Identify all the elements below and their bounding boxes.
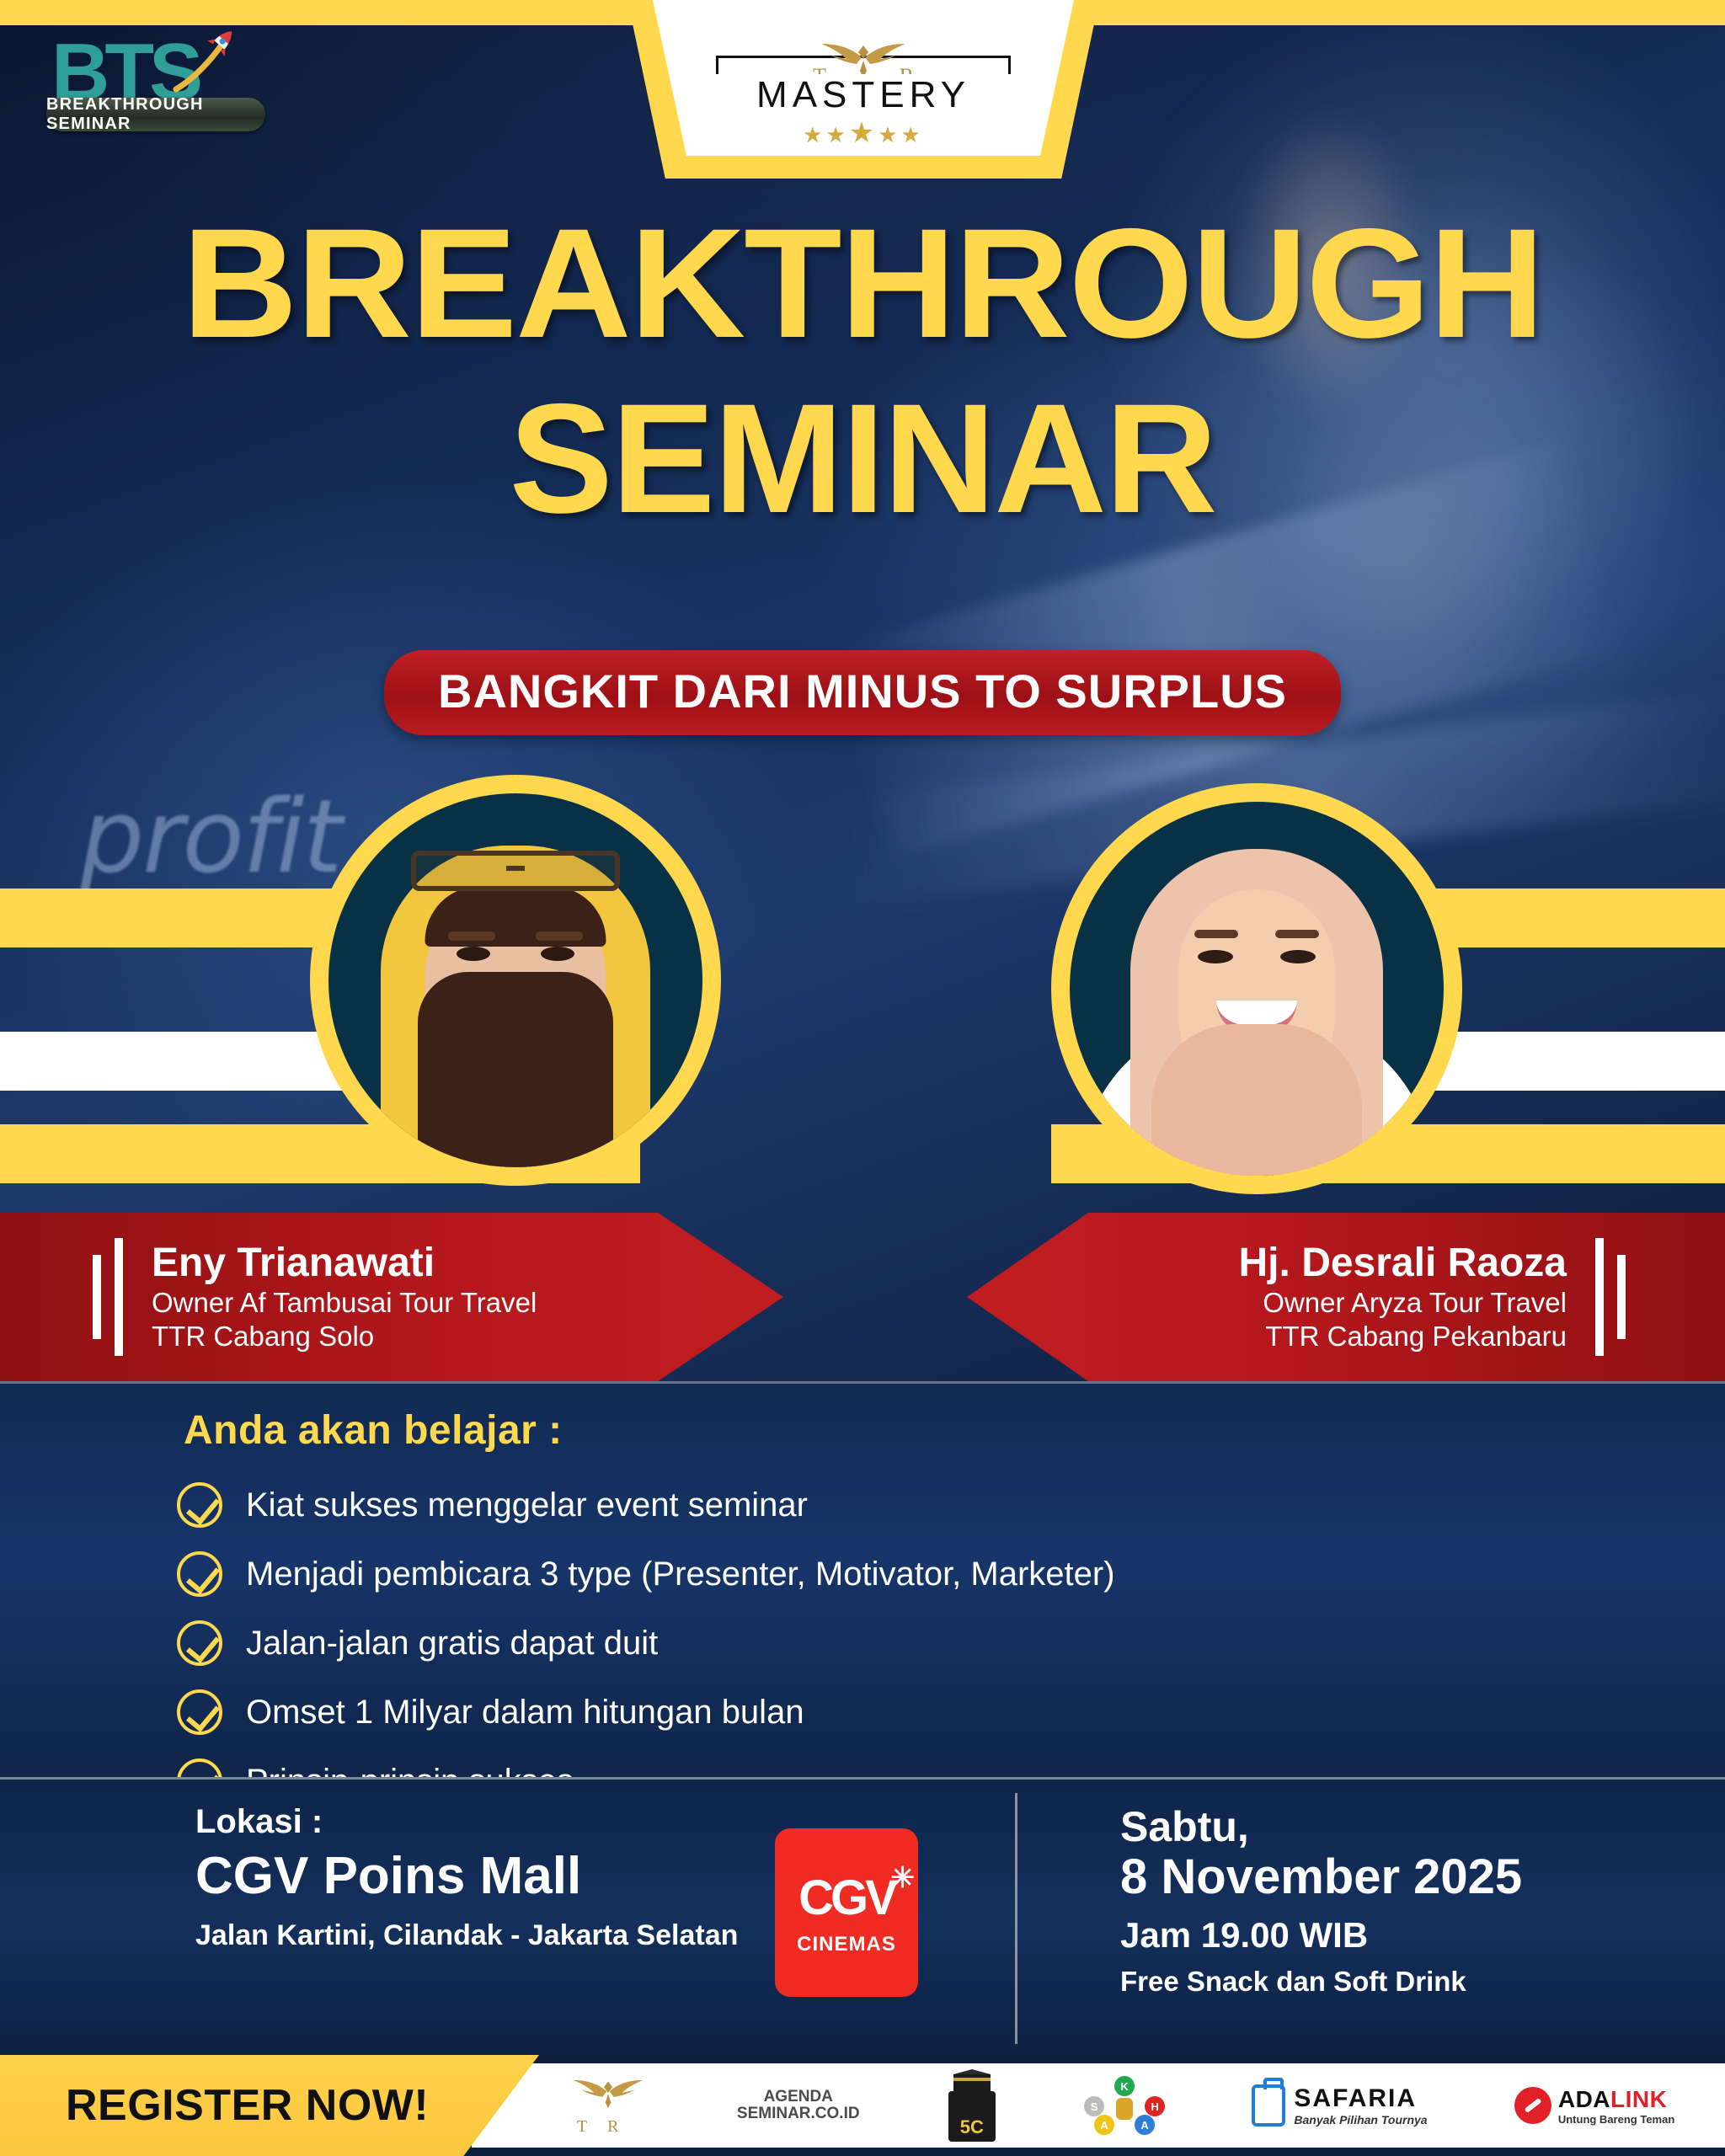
adalink-wordmark: ADALINK: [1558, 2086, 1674, 2113]
asterisk-icon: ✳: [890, 1861, 911, 1895]
agenda-line2: SEMINAR.CO.ID: [737, 2105, 860, 2122]
speaker-1-branch: TTR Cabang Solo: [152, 1320, 537, 1353]
safaria-tagline: Banyak Pilihan Tournya: [1294, 2113, 1427, 2127]
venue-name: CGV Poins Mall: [195, 1846, 738, 1906]
speaker-1-ribbon: Eny Trianawati Owner Af Tambusai Tour Tr…: [0, 1213, 783, 1381]
cgv-cinemas-logo: CGV ✳ CINEMAS: [775, 1828, 918, 1997]
page-title-line1: BREAKTHROUGH: [0, 212, 1725, 355]
cgv-subtext: CINEMAS: [797, 1933, 896, 1956]
learn-item-text: Menjadi pembicara 3 type (Presenter, Mot…: [246, 1556, 1115, 1593]
sponsor-umroh-5c: 5C: [947, 2069, 997, 2142]
umroh-5c-badge: 5C: [948, 2091, 996, 2142]
venue-block: Lokasi : CGV Poins Mall Jalan Kartini, C…: [195, 1803, 738, 1952]
adalink-link: LINK: [1610, 2086, 1667, 2112]
speaker-2-role: Owner Aryza Tour Travel: [1239, 1286, 1567, 1320]
learn-item-text: Jalan-jalan gratis dapat duit: [246, 1625, 658, 1662]
learn-item-text: Omset 1 Milyar dalam hitungan bulan: [246, 1694, 804, 1732]
schedule-day: Sabtu,: [1120, 1803, 1522, 1850]
schedule-date: 8 November 2025: [1120, 1850, 1522, 1905]
list-item: Kiat sukses menggelar event seminar: [177, 1476, 1154, 1534]
adalink-ada: ADA: [1558, 2086, 1610, 2112]
sponsor-ksah: K S H A A: [1084, 2069, 1165, 2142]
speaker-1-portrait: [328, 793, 702, 1167]
kaaba-icon: [947, 2069, 997, 2091]
sponsor-logos: TR AGENDA SEMINAR.CO.ID 5C: [522, 2063, 1718, 2148]
ribbon-bars-right: [1595, 1238, 1626, 1356]
poster-root: profit T R MASTERY ★★★★★: [0, 0, 1725, 2156]
list-item: Jalan-jalan gratis dapat duit: [177, 1614, 1154, 1672]
check-icon: [177, 1482, 222, 1528]
glasses-icon: [411, 851, 620, 891]
subtitle-wrap: BANGKIT DARI MINUS TO SURPLUS: [0, 650, 1725, 735]
speaker-2-text: Hj. Desrali Raoza Owner Aryza Tour Trave…: [1210, 1241, 1595, 1353]
check-icon: [177, 1620, 222, 1666]
ksah-h: H: [1145, 2096, 1165, 2116]
learn-heading: Anda akan belajar :: [184, 1407, 563, 1454]
avatar-speaker-1: [310, 775, 721, 1186]
ksah-a2: A: [1135, 2115, 1155, 2135]
link-icon: [1514, 2087, 1551, 2124]
ksah-s: S: [1084, 2096, 1104, 2116]
check-icon: [177, 1689, 222, 1735]
check-icon: [177, 1551, 222, 1597]
ksah-k: K: [1114, 2076, 1135, 2096]
sponsor-ttr: TR: [566, 2069, 650, 2142]
decorative-stripes: [0, 889, 1725, 1179]
speaker-2-ribbon: Hj. Desrali Raoza Owner Aryza Tour Trave…: [967, 1213, 1725, 1381]
register-now-banner[interactable]: REGISTER NOW!: [0, 2055, 539, 2156]
learn-section: Anda akan belajar : Kiat sukses menggela…: [0, 1381, 1725, 1777]
bts-tagline-plate: BREAKTHROUGH SEMINAR: [46, 98, 265, 131]
eagle-icon: [566, 2075, 650, 2109]
ksah-figure-icon: [1116, 2098, 1133, 2120]
rocket-icon: [173, 27, 240, 93]
speaker-2-name: Hj. Desrali Raoza: [1239, 1241, 1567, 1286]
schedule-time: Jam 19.00 WIB: [1120, 1915, 1522, 1956]
cgv-wordmark: CGV ✳: [798, 1870, 895, 1926]
subtitle-badge: BANGKIT DARI MINUS TO SURPLUS: [384, 650, 1341, 735]
venue-schedule-section: Lokasi : CGV Poins Mall Jalan Kartini, C…: [0, 1777, 1725, 2055]
page-title-line2: SEMINAR: [0, 387, 1725, 531]
bts-logo: BTS BREAKTHROUGH SEMINAR: [46, 35, 265, 128]
mastery-stars: ★★★★★: [716, 116, 1011, 150]
mastery-wordmark: MASTERY: [716, 74, 1011, 116]
schedule-note: Free Snack dan Soft Drink: [1120, 1966, 1522, 1998]
schedule-block: Sabtu, 8 November 2025 Jam 19.00 WIB Fre…: [1120, 1803, 1522, 1998]
ksah-a1: A: [1094, 2115, 1114, 2135]
speaker-1-text: Eny Trianawati Owner Af Tambusai Tour Tr…: [123, 1241, 565, 1353]
ttr-letter-r: R: [607, 2117, 638, 2136]
sponsor-ttr-letters: TR: [577, 2117, 639, 2137]
ribbon-bars-left: [93, 1238, 123, 1356]
cgv-word-text: CGV: [798, 1870, 895, 1925]
bts-tagline: BREAKTHROUGH SEMINAR: [46, 95, 265, 134]
safaria-wordmark: SAFARIA: [1294, 2084, 1427, 2113]
suitcase-icon: [1252, 2084, 1285, 2127]
umroh-5c-text: 5C: [960, 2116, 984, 2138]
register-now-label: REGISTER NOW!: [66, 2080, 429, 2131]
venue-address: Jalan Kartini, Cilandak - Jakarta Selata…: [195, 1919, 738, 1952]
adalink-tagline: Untung Bareng Teman: [1558, 2113, 1674, 2126]
list-item: Menjadi pembicara 3 type (Presenter, Mot…: [177, 1545, 1154, 1603]
venue-label: Lokasi :: [195, 1803, 738, 1841]
avatar-speaker-2: [1051, 783, 1462, 1194]
agenda-line1: AGENDA: [737, 2089, 860, 2105]
mastery-logo: T R MASTERY ★★★★★: [716, 30, 1011, 140]
mastery-logo-panel: T R MASTERY ★★★★★: [653, 0, 1074, 156]
learn-bullet-list: Kiat sukses menggelar event seminar Menj…: [177, 1476, 1154, 1822]
vertical-divider: [1015, 1793, 1017, 2044]
learn-item-text: Kiat sukses menggelar event seminar: [246, 1486, 808, 1524]
list-item: Omset 1 Milyar dalam hitungan bulan: [177, 1684, 1154, 1741]
footer-bar: TR AGENDA SEMINAR.CO.ID 5C: [0, 2055, 1725, 2156]
sponsor-agenda-seminar: AGENDA SEMINAR.CO.ID: [737, 2069, 860, 2142]
speaker-1-role: Owner Af Tambusai Tour Travel: [152, 1286, 537, 1320]
speaker-2-portrait: [1070, 802, 1444, 1176]
sponsor-adalink: ADALINK Untung Bareng Teman: [1514, 2069, 1674, 2142]
speaker-name-band: Eny Trianawati Owner Af Tambusai Tour Tr…: [0, 1213, 1725, 1381]
profit-watermark: profit: [80, 779, 341, 896]
sponsor-safaria: SAFARIA Banyak Pilihan Tournya: [1252, 2069, 1427, 2142]
speaker-1-name: Eny Trianawati: [152, 1241, 537, 1286]
speaker-2-branch: TTR Cabang Pekanbaru: [1239, 1320, 1567, 1353]
ttr-letter-t: T: [577, 2117, 607, 2136]
